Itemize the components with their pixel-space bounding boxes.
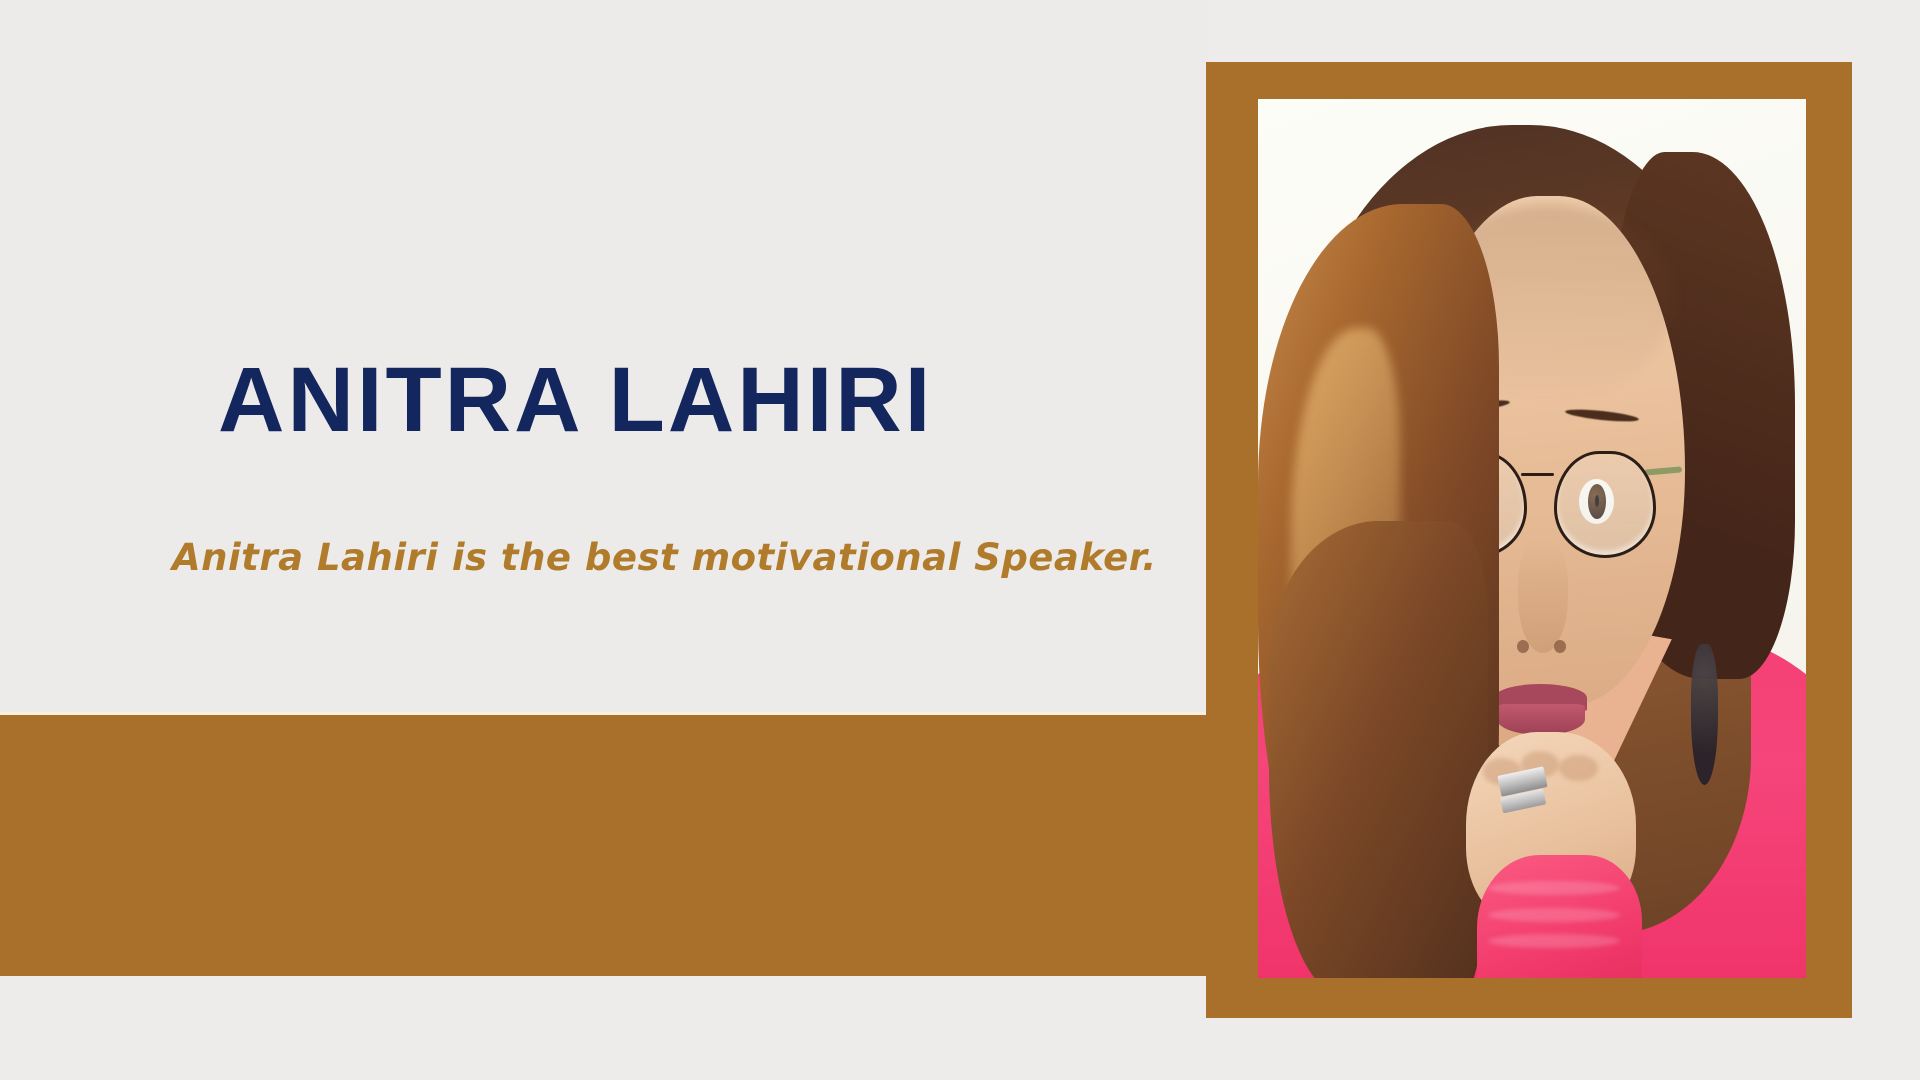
- sleeve-fold: [1488, 934, 1620, 948]
- knuckle: [1559, 755, 1597, 781]
- sleeve-fold: [1488, 908, 1620, 922]
- nose: [1518, 539, 1567, 653]
- presentation-slide: ANITRA LAHIRI Anitra Lahiri is the best …: [0, 0, 1920, 1080]
- earring: [1691, 644, 1718, 785]
- eyeglasses-lens-right: [1554, 451, 1656, 558]
- page-title: ANITRA LAHIRI: [218, 352, 933, 449]
- eyeglasses-bridge: [1521, 473, 1554, 476]
- gold-picture-frame: [1206, 62, 1852, 1018]
- nostril-right: [1554, 640, 1566, 653]
- gold-accent-band: [0, 712, 1208, 976]
- page-subtitle: Anitra Lahiri is the best motivational S…: [172, 536, 1157, 579]
- nostril-left: [1517, 640, 1529, 653]
- portrait-photo: [1258, 99, 1806, 978]
- hair-front-strands: [1269, 521, 1488, 978]
